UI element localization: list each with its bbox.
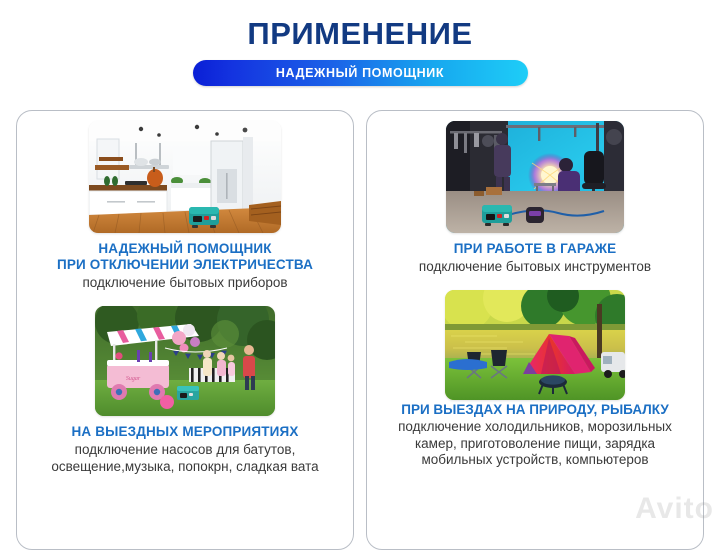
garden-party-cart-photo: Sugar [95,306,275,416]
garage-welding-photo [446,121,624,233]
garage-work-headline: ПРИ РАБОТЕ В ГАРАЖЕ [419,241,651,257]
home-power-outage-subline: подключение бытовых приборов [57,275,313,292]
block-nature-fishing: ПРИ ВЫЕЗДАХ НА ПРИРОДУ, РЫБАЛКУ подключе… [375,290,695,470]
cards-container: НАДЕЖНЫЙ ПОМОЩНИК ПРИ ОТКЛЮЧЕНИИ ЭЛЕКТРИ… [0,110,720,550]
headline-line-1: НАДЕЖНЫЙ ПОМОЩНИК [98,241,271,256]
page-title: ПРИМЕНЕНИЕ [0,18,720,51]
welding-mask [526,207,544,223]
kitchen-generator-photo [89,121,281,233]
block-home-power-outage: НАДЕЖНЫЙ ПОМОЩНИК ПРИ ОТКЛЮЧЕНИИ ЭЛЕКТРИ… [25,121,345,292]
nature-fishing-text: ПРИ ВЫЕЗДАХ НА ПРИРОДУ, РЫБАЛКУ подключе… [375,400,695,470]
subtitle-badge-label: НАДЕЖНЫЙ ПОМОЩНИК [276,66,444,80]
block-garage-work: ПРИ РАБОТЕ В ГАРАЖЕ подключение бытовых … [375,121,695,276]
block-outdoor-events: Sugar [25,306,345,476]
left-card: НАДЕЖНЫЙ ПОМОЩНИК ПРИ ОТКЛЮЧЕНИИ ЭЛЕКТРИ… [16,110,354,550]
right-card: ПРИ РАБОТЕ В ГАРАЖЕ подключение бытовых … [366,110,704,550]
outdoor-events-headline: НА ВЫЕЗДНЫХ МЕРОПРИЯТИЯХ [29,424,341,440]
outdoor-events-subline: подключение насосов для батутов, освещен… [29,442,341,476]
lake-camping-tent-photo [445,290,625,400]
nature-fishing-combined: ПРИ ВЫЕЗДАХ НА ПРИРОДУ, РЫБАЛКУ подключе… [379,402,691,470]
garage-work-text: ПРИ РАБОТЕ В ГАРАЖЕ подключение бытовых … [415,233,655,276]
generator-object [189,207,219,228]
generator-object [482,205,512,226]
nature-fishing-headline: ПРИ ВЫЕЗДАХ НА ПРИРОДУ, РЫБАЛКУ [401,402,668,417]
subtitle-badge-wrapper: НАДЕЖНЫЙ ПОМОЩНИК [0,60,720,86]
headline-line-2: ПРИ ОТКЛЮЧЕНИИ ЭЛЕКТРИЧЕСТВА [57,257,313,272]
subtitle-badge: НАДЕЖНЫЙ ПОМОЩНИК [193,60,528,86]
page-header: ПРИМЕНЕНИЕ НАДЕЖНЫЙ ПОМОЩНИК [0,0,720,86]
svg-text:Sugar: Sugar [126,376,141,382]
home-power-outage-headline: НАДЕЖНЫЙ ПОМОЩНИК ПРИ ОТКЛЮЧЕНИИ ЭЛЕКТРИ… [57,241,313,273]
home-power-outage-text: НАДЕЖНЫЙ ПОМОЩНИК ПРИ ОТКЛЮЧЕНИИ ЭЛЕКТРИ… [53,233,317,292]
outdoor-events-text: НА ВЫЕЗДНЫХ МЕРОПРИЯТИЯХ подключение нас… [25,416,345,476]
generator-object [177,386,199,400]
nature-fishing-subline: подключение холодильников, морозильных к… [398,419,672,468]
garage-work-subline: подключение бытовых инструментов [419,259,651,276]
